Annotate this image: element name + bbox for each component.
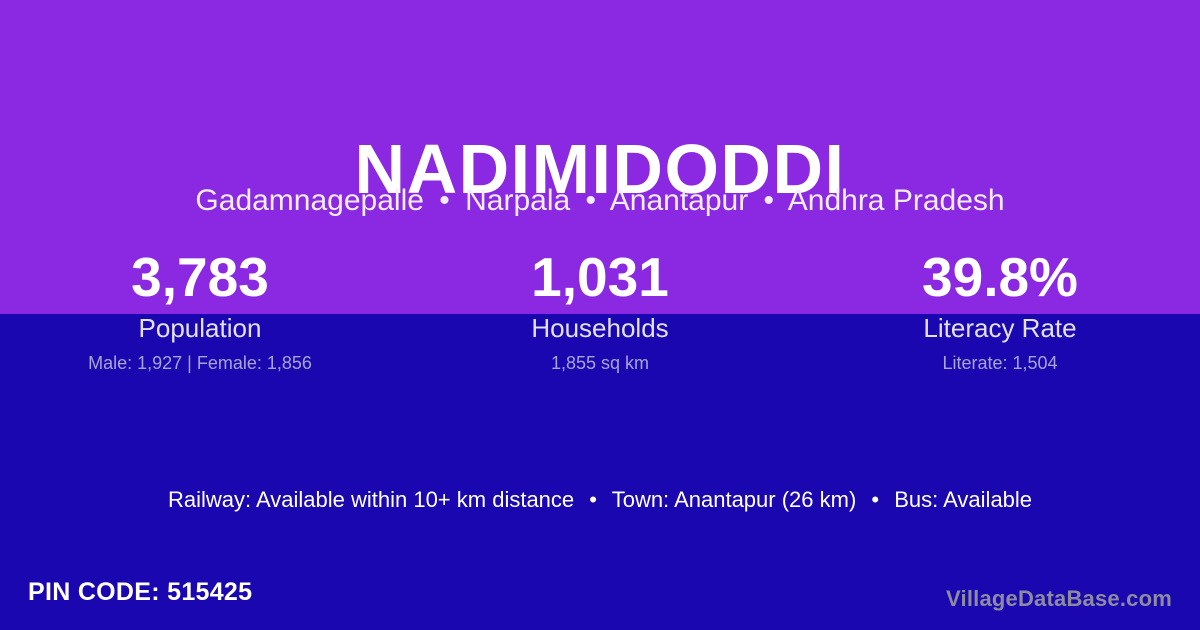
stat-label-population: Population xyxy=(0,313,400,343)
stat-sub-population: Male: 1,927 | Female: 1,856 xyxy=(0,352,400,374)
stat-value-households: 1,031 xyxy=(400,246,800,308)
stat-sub-households: 1,855 sq km xyxy=(400,352,800,374)
stat-value-literacy-rate: 39.8% xyxy=(800,246,1200,308)
breadcrumb: Gadamnagepalle • Narpala • Anantapur • A… xyxy=(0,182,1200,220)
breadcrumb-item-state: Andhra Pradesh xyxy=(788,184,1005,217)
stat-population: 3,783 Population Male: 1,927 | Female: 1… xyxy=(0,246,400,374)
infrastructure-item-railway: Railway: Available within 10+ km distanc… xyxy=(168,487,574,512)
breadcrumb-item-village: Gadamnagepalle xyxy=(195,184,424,217)
infrastructure-item-town: Town: Anantapur (26 km) xyxy=(612,487,857,512)
breadcrumb-separator: • xyxy=(579,184,604,217)
infrastructure-item-bus: Bus: Available xyxy=(894,487,1032,512)
breadcrumb-item-district: Anantapur xyxy=(610,184,748,217)
village-info-card: NADIMIDODDI Gadamnagepalle • Narpala • A… xyxy=(0,0,1200,630)
stat-label-households: Households xyxy=(400,313,800,343)
stat-sub-literacy-rate: Literate: 1,504 xyxy=(800,352,1200,374)
stat-label-literacy-rate: Literacy Rate xyxy=(800,313,1200,343)
infrastructure-separator: • xyxy=(580,487,606,512)
stat-value-population: 3,783 xyxy=(0,246,400,308)
infrastructure-summary: Railway: Available within 10+ km distanc… xyxy=(0,486,1200,514)
breadcrumb-item-mandal: Narpala xyxy=(465,184,570,217)
stat-households: 1,031 Households 1,855 sq km xyxy=(400,246,800,374)
pin-code-label: PIN CODE: 515425 xyxy=(28,577,252,607)
infrastructure-separator: • xyxy=(862,487,888,512)
breadcrumb-separator: • xyxy=(757,184,782,217)
breadcrumb-separator: • xyxy=(432,184,457,217)
site-watermark: VillageDataBase.com xyxy=(946,585,1172,613)
stats-row: 3,783 Population Male: 1,927 | Female: 1… xyxy=(0,246,1200,374)
stat-literacy-rate: 39.8% Literacy Rate Literate: 1,504 xyxy=(800,246,1200,374)
